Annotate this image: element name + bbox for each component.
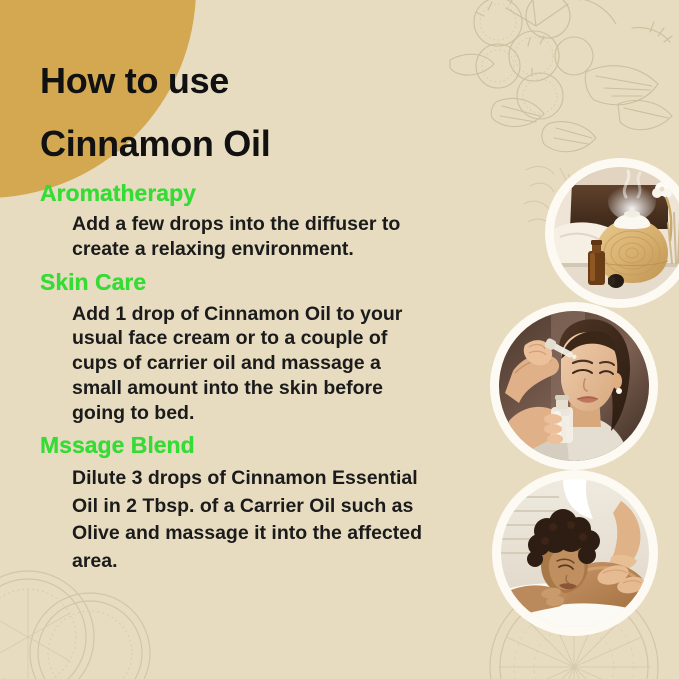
section-aromatherapy: Aromatherapy Add a few drops into the di… — [40, 179, 460, 262]
section-body-aromatherapy: Add a few drops into the diffuser to cre… — [40, 212, 432, 262]
section-massage-blend: Mssage Blend Dilute 3 drops of Cinnamon … — [40, 431, 460, 576]
section-heading-massage-blend: Mssage Blend — [40, 431, 460, 460]
diffuser-photo-image — [554, 167, 679, 299]
content-column: How to use Cinnamon Oil Aromatherapy Add… — [40, 62, 460, 582]
skincare-photo — [490, 302, 658, 470]
infographic-poster: How to use Cinnamon Oil Aromatherapy Add… — [0, 0, 679, 679]
botanical-line-art — [436, 0, 679, 184]
section-skin-care: Skin Care Add 1 drop of Cinnamon Oil to … — [40, 268, 460, 426]
section-heading-aromatherapy: Aromatherapy — [40, 179, 460, 208]
massage-photo — [492, 470, 658, 636]
section-body-massage-blend: Dilute 3 drops of Cinnamon Essential Oil… — [40, 465, 432, 576]
poster-title-line-1: How to use — [40, 62, 460, 100]
diffuser-photo — [545, 158, 679, 308]
section-heading-skin-care: Skin Care — [40, 268, 460, 297]
poster-title-line-2: Cinnamon Oil — [40, 125, 460, 163]
section-body-skin-care: Add 1 drop of Cinnamon Oil to your usual… — [40, 302, 432, 426]
skincare-photo-image — [499, 311, 649, 461]
massage-photo-image — [501, 479, 649, 627]
